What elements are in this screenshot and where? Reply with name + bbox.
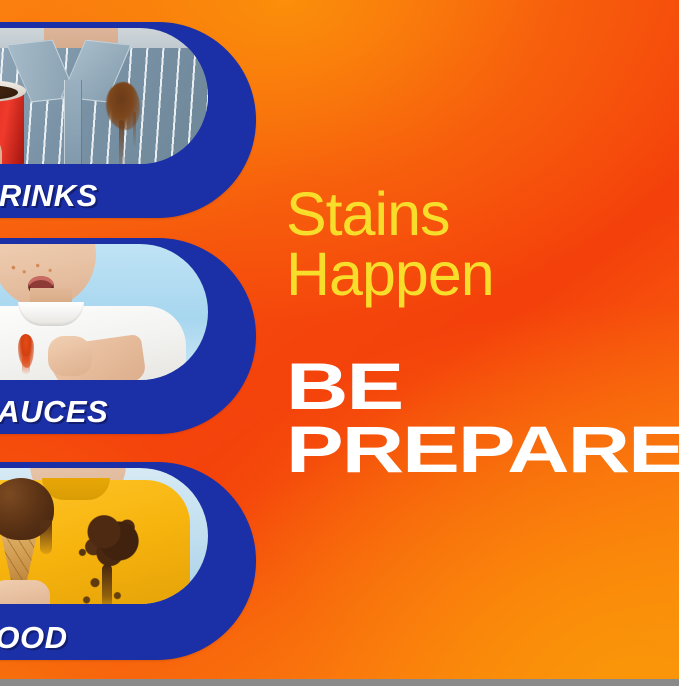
coffee-drip [119, 120, 124, 164]
chocolate-specks [74, 538, 144, 604]
food-photo [0, 468, 208, 604]
category-label-drinks: DRINKS [0, 178, 98, 214]
melting-drip-right [40, 520, 52, 554]
coffee-drip-secondary [133, 112, 136, 146]
subhead-line-1-text: BE [286, 356, 402, 417]
advertisement-image: DRINKS SAUCES [0, 0, 679, 686]
category-pill-drinks: DRINKS [0, 22, 256, 218]
bottom-strip [0, 679, 679, 686]
drinks-photo [0, 28, 208, 164]
category-label-sauces: SAUCES [0, 394, 108, 430]
subhead-line-2: PREPARED [286, 419, 679, 480]
sauce-drip [22, 356, 30, 374]
child-hand [48, 336, 92, 376]
subhead-block: BE PREPARED [286, 356, 678, 481]
hand-holding-cone [0, 580, 50, 604]
food-photo-scene [0, 468, 208, 604]
category-pill-sauces: SAUCES [0, 238, 256, 434]
headline-line-2: Happen [286, 245, 678, 305]
sauces-photo [0, 244, 208, 380]
headline-block: Stains Happen [286, 185, 678, 305]
headline-line-1: Stains [286, 185, 678, 245]
category-label-food: FOOD [0, 620, 68, 656]
shirt-placket [64, 80, 82, 164]
drinks-photo-scene [0, 28, 208, 164]
category-pill-food: FOOD [0, 462, 256, 660]
face-crumbs [8, 262, 62, 276]
sauces-photo-scene [0, 244, 208, 380]
subhead-line-1: BE [286, 356, 678, 417]
